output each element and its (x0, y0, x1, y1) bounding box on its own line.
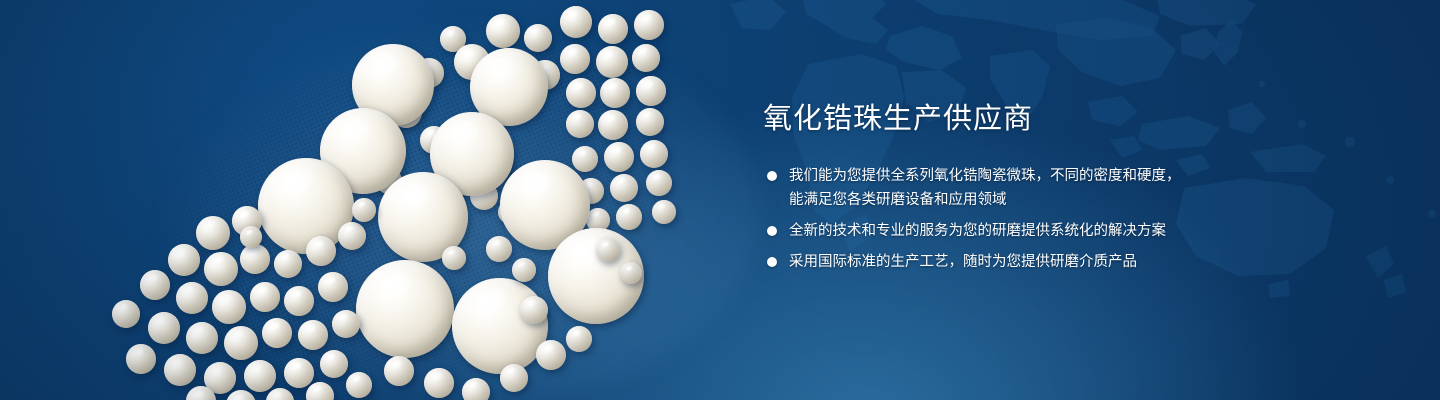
bullet-dot-icon (767, 226, 777, 236)
bullet-line: 我们能为您提供全系列氧化锆陶瓷微珠，不同的密度和硬度， (789, 164, 1323, 188)
banner-copy-block: 氧化锆珠生产供应商 我们能为您提供全系列氧化锆陶瓷微珠，不同的密度和硬度， 能满… (763, 104, 1323, 274)
list-item: 我们能为您提供全系列氧化锆陶瓷微珠，不同的密度和硬度， 能满足您各类研磨设备和应… (763, 164, 1323, 212)
bullet-dot-icon (767, 171, 777, 181)
hero-banner: 氧化锆珠生产供应商 我们能为您提供全系列氧化锆陶瓷微珠，不同的密度和硬度， 能满… (0, 0, 1440, 400)
banner-headline: 氧化锆珠生产供应商 (763, 104, 1323, 136)
list-item: 全新的技术和专业的服务为您的研磨提供系统化的解决方案 (763, 219, 1323, 243)
bullet-line: 能满足您各类研磨设备和应用领域 (789, 188, 1323, 212)
bullet-line: 全新的技术和专业的服务为您的研磨提供系统化的解决方案 (789, 219, 1323, 243)
banner-feature-list: 我们能为您提供全系列氧化锆陶瓷微珠，不同的密度和硬度， 能满足您各类研磨设备和应… (763, 164, 1323, 274)
bullet-dot-icon (767, 257, 777, 267)
bullet-line: 采用国际标准的生产工艺，随时为您提供研磨介质产品 (789, 250, 1323, 274)
list-item: 采用国际标准的生产工艺，随时为您提供研磨介质产品 (763, 250, 1323, 274)
